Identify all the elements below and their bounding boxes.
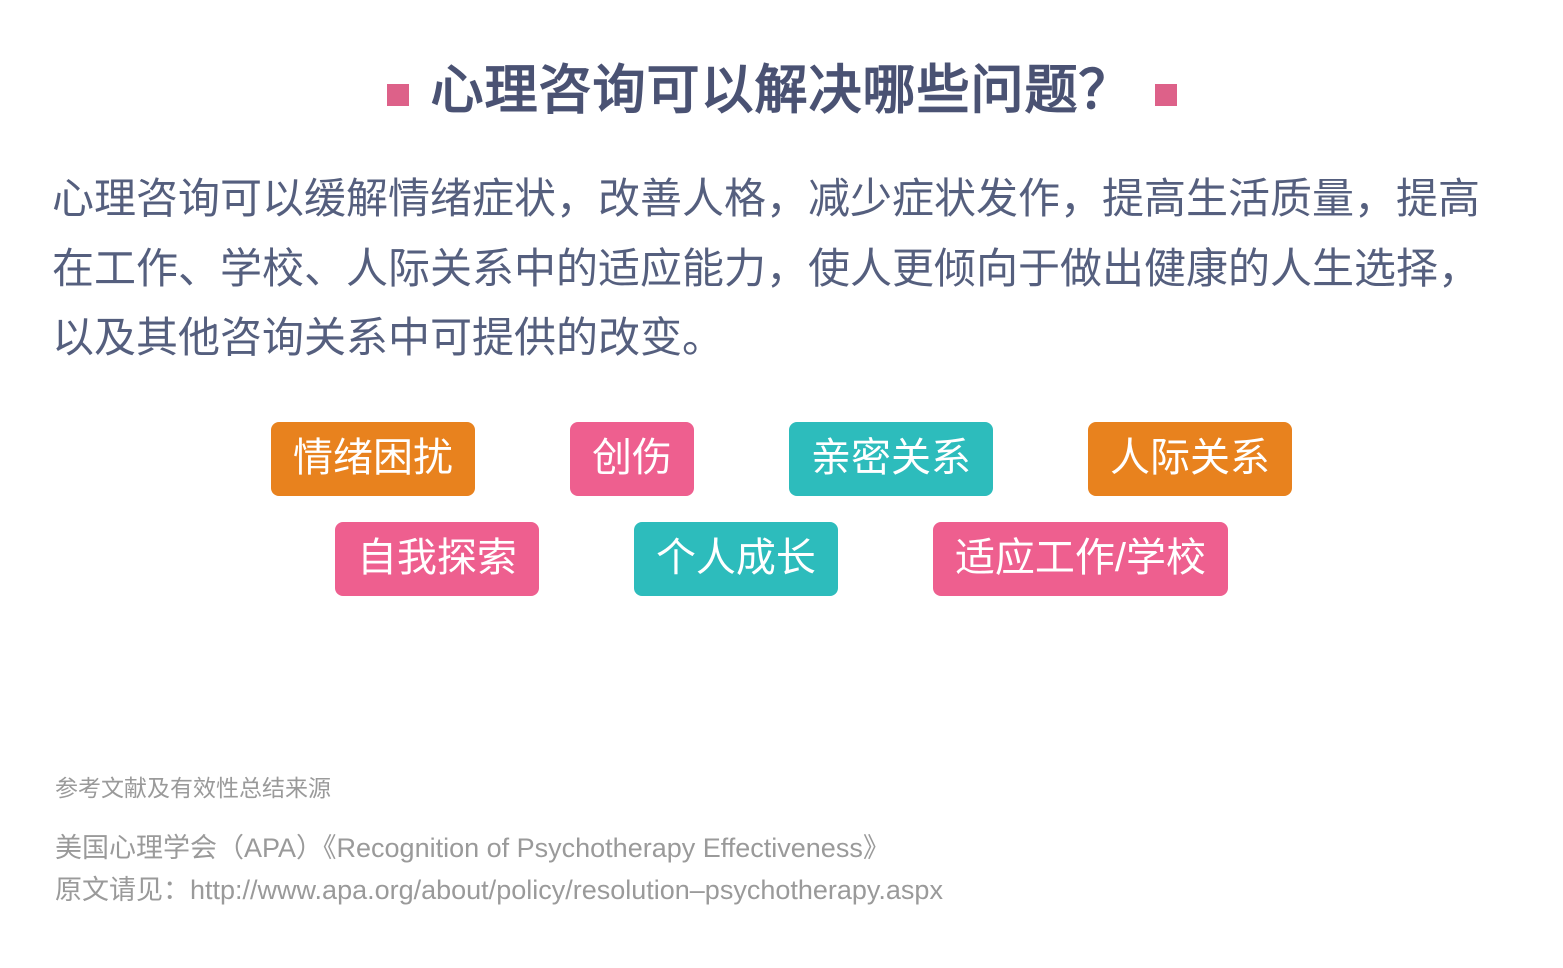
tag-trauma[interactable]: 创伤 <box>570 422 694 496</box>
poster-root: 心理咨询可以解决哪些问题？ 心理咨询可以缓解情绪症状，改善人格，减少症状发作，提… <box>0 0 1563 968</box>
page-title: 心理咨询可以解决哪些问题？ <box>0 0 1563 120</box>
references-heading: 参考文献及有效性总结来源 <box>55 775 943 803</box>
reference-source-url: 原文请见：http://www.apa.org/about/policy/res… <box>55 870 943 912</box>
square-bullet-right-icon <box>1155 84 1177 106</box>
tag-emotional-distress[interactable]: 情绪困扰 <box>271 422 475 496</box>
tag-work-school-adaptation[interactable]: 适应工作/学校 <box>933 522 1228 596</box>
references-footer: 参考文献及有效性总结来源 美国心理学会（APA）《Recognition of … <box>55 775 943 912</box>
tag-self-exploration[interactable]: 自我探索 <box>335 522 539 596</box>
tag-row-1: 情绪困扰 创伤 亲密关系 人际关系 <box>0 422 1563 496</box>
tag-personal-growth[interactable]: 个人成长 <box>634 522 838 596</box>
page-title-text: 心理咨询可以解决哪些问题？ <box>431 62 1133 120</box>
square-bullet-left-icon <box>387 84 409 106</box>
tag-row-2: 自我探索 个人成长 适应工作/学校 <box>0 522 1563 596</box>
tag-intimate-relationship[interactable]: 亲密关系 <box>789 422 993 496</box>
reference-citation-apa: 美国心理学会（APA）《Recognition of Psychotherapy… <box>55 828 943 870</box>
body-paragraph-container: 心理咨询可以缓解情绪症状，改善人格，减少症状发作，提高生活质量，提高在工作、学校… <box>52 164 1511 372</box>
tag-interpersonal-relationship[interactable]: 人际关系 <box>1088 422 1292 496</box>
tag-groups: 情绪困扰 创伤 亲密关系 人际关系 自我探索 个人成长 适应工作/学校 <box>0 422 1563 596</box>
body-paragraph-text: 心理咨询可以缓解情绪症状，改善人格，减少症状发作，提高生活质量，提高在工作、学校… <box>52 164 1511 372</box>
